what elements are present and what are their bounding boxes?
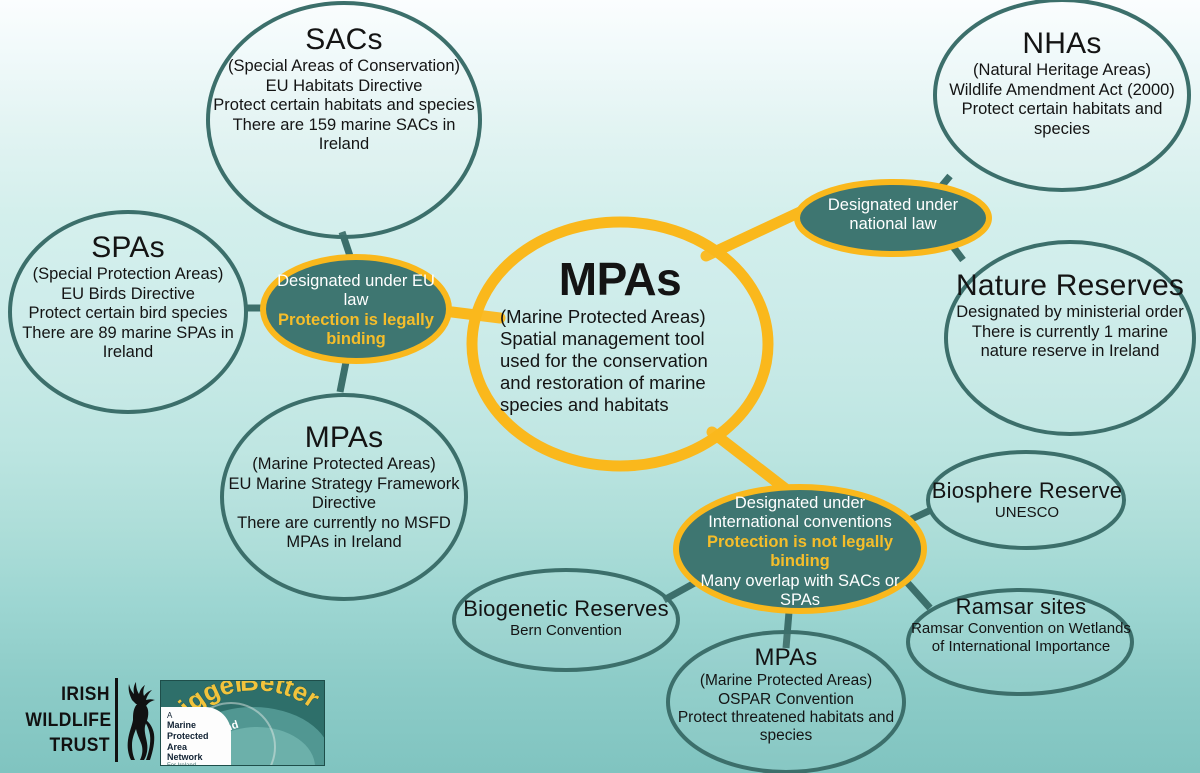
iwt-line-3: TRUST (25, 733, 110, 759)
deer-icon (116, 680, 164, 762)
node-hub-mpas[interactable] (472, 222, 768, 466)
diagram-svg (0, 0, 1200, 773)
bigger-and-better-logo: Bigger Better and A Marine Protected Are… (160, 680, 325, 766)
panel-line-area: Area (167, 742, 228, 753)
connector-ramsar-to-intl (905, 580, 930, 608)
node-biogenetic-reserves[interactable] (454, 570, 678, 670)
branch-national-law[interactable] (797, 182, 989, 254)
node-mpas-msfd[interactable] (222, 395, 466, 599)
panel-line-protected: Protected (167, 731, 228, 742)
iwt-wordmark: IRISH WILDLIFE TRUST (25, 682, 110, 759)
branch-international-conventions[interactable] (676, 487, 924, 611)
node-mpas-ospar[interactable] (668, 632, 904, 772)
mpa-network-panel: A Marine Protected Area Network For Irel… (161, 707, 231, 765)
node-biosphere-reserve[interactable] (928, 452, 1124, 548)
infographic-canvas: SACs (Special Areas of Conservation) EU … (0, 0, 1200, 773)
node-spas[interactable] (10, 212, 246, 412)
iwt-line-2: WILDLIFE (25, 708, 110, 734)
panel-line-for-ireland: For Ireland (167, 763, 228, 766)
branch-eu-law[interactable] (263, 257, 449, 361)
panel-line-a: A (167, 711, 228, 720)
iwt-line-1: IRISH (25, 682, 110, 708)
panel-line-marine: Marine (167, 720, 228, 731)
irish-wildlife-trust-logo: IRISH WILDLIFE TRUST (18, 678, 146, 762)
node-sacs[interactable] (208, 3, 480, 237)
node-ramsar-sites[interactable] (908, 590, 1132, 694)
node-nhas[interactable] (935, 0, 1189, 190)
panel-line-network: Network (167, 752, 228, 763)
node-nature-reserves[interactable] (946, 242, 1194, 434)
